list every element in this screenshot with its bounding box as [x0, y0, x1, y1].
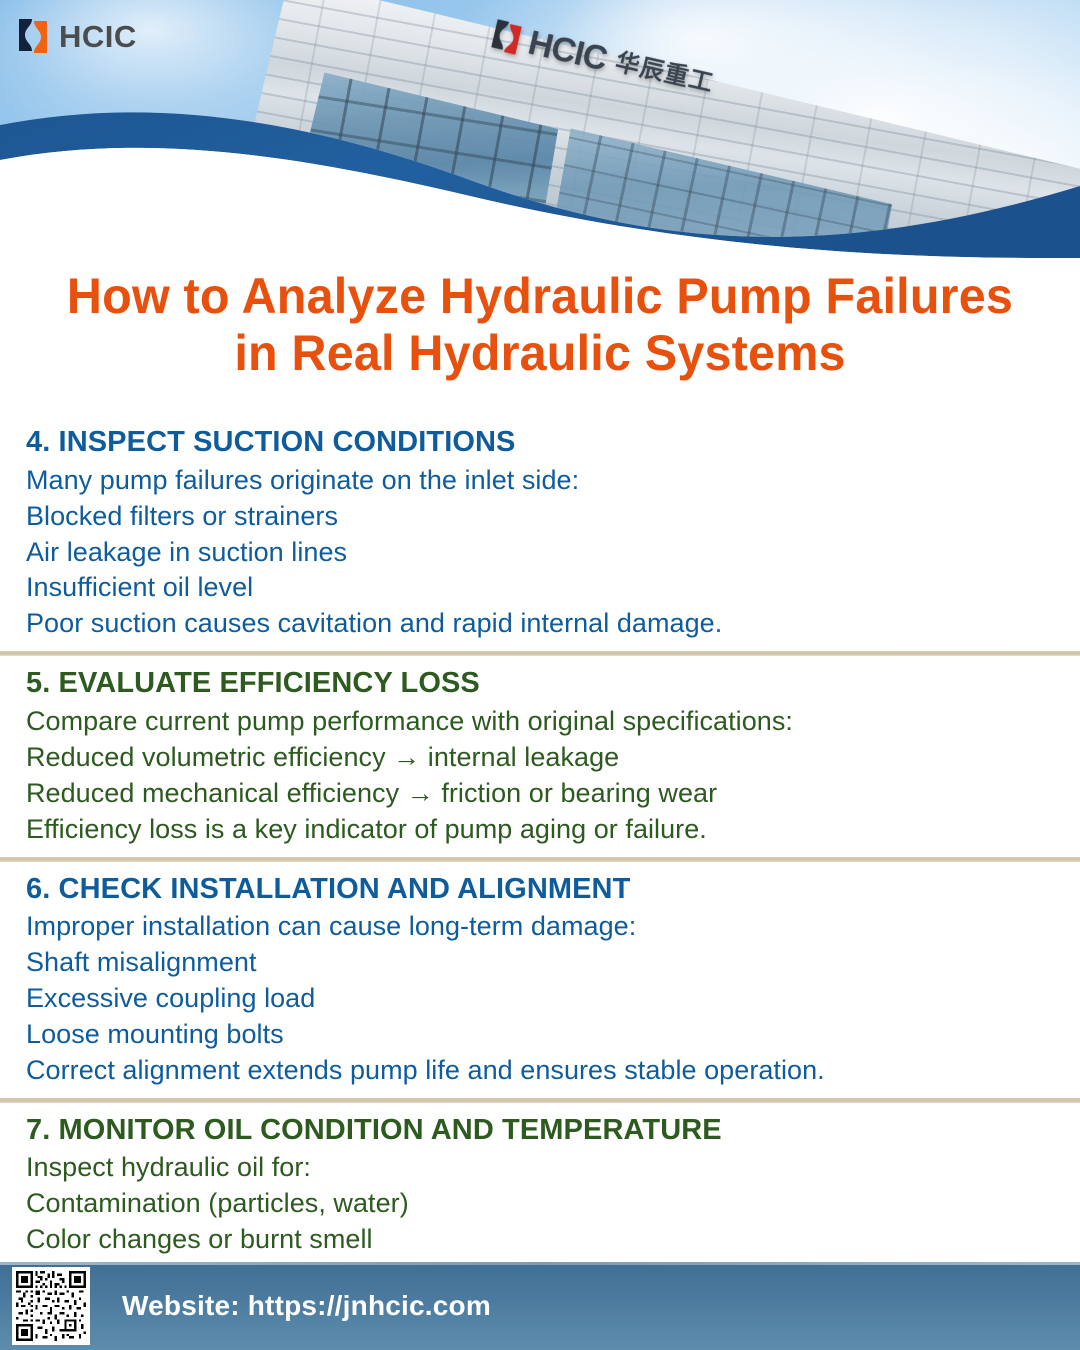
footer-bar: Website: https://jnhcic.com: [0, 1262, 1080, 1350]
section-6: 6. CHECK INSTALLATION AND ALIGNMENT Impr…: [0, 865, 1080, 1093]
section-4-line-2: Blocked filters or strainers: [26, 499, 1054, 535]
hero-banner: HCIC 华辰重工 HCIC: [0, 0, 1080, 258]
section-divider-1: [0, 651, 1080, 656]
footer-top-rule: [0, 1262, 1080, 1265]
section-6-line-3: Excessive coupling load: [26, 981, 1054, 1017]
section-6-heading: 6. CHECK INSTALLATION AND ALIGNMENT: [26, 871, 1054, 909]
section-6-line-5: Correct alignment extends pump life and …: [26, 1053, 1054, 1089]
page-title: How to Analyze Hydraulic Pump Failures i…: [16, 268, 1064, 381]
section-divider-3: [0, 1098, 1080, 1103]
section-7-line-1: Inspect hydraulic oil for:: [26, 1150, 1054, 1186]
section-5: 5. EVALUATE EFFICIENCY LOSS Compare curr…: [0, 659, 1080, 851]
section-divider-2: [0, 857, 1080, 862]
qr-code-graphic: [16, 1271, 86, 1341]
section-5-heading: 5. EVALUATE EFFICIENCY LOSS: [26, 665, 1054, 703]
section-5-line-2: Reduced volumetric efficiency → internal…: [26, 740, 1054, 776]
section-4-line-3: Air leakage in suction lines: [26, 535, 1054, 571]
hcic-logo-mark-icon: [487, 17, 526, 57]
section-6-line-4: Loose mounting bolts: [26, 1017, 1054, 1053]
section-5-line-3: Reduced mechanical efficiency → friction…: [26, 776, 1054, 812]
hcic-logo-mark-icon: [16, 17, 50, 55]
section-4: 4. INSPECT SUCTION CONDITIONS Many pump …: [0, 418, 1080, 646]
section-4-line-4: Insufficient oil level: [26, 570, 1054, 606]
website-label[interactable]: Website: https://jnhcic.com: [122, 1290, 491, 1322]
section-4-line-1: Many pump failures originate on the inle…: [26, 463, 1054, 499]
section-7-heading: 7. MONITOR OIL CONDITION AND TEMPERATURE: [26, 1112, 1054, 1150]
hcic-logo-wordmark: HCIC: [59, 21, 137, 52]
section-6-line-2: Shaft misalignment: [26, 945, 1054, 981]
qr-code-icon[interactable]: [12, 1267, 90, 1345]
section-5-line-4: Efficiency loss is a key indicator of pu…: [26, 812, 1054, 848]
section-6-line-1: Improper installation can cause long-ter…: [26, 909, 1054, 945]
section-4-heading: 4. INSPECT SUCTION CONDITIONS: [26, 424, 1054, 462]
hcic-logo: HCIC: [16, 17, 137, 55]
section-4-line-5: Poor suction causes cavitation and rapid…: [26, 606, 1054, 642]
section-7-line-3: Color changes or burnt smell: [26, 1222, 1054, 1258]
section-7-line-2: Contamination (particles, water): [26, 1186, 1054, 1222]
section-5-line-1: Compare current pump performance with or…: [26, 704, 1054, 740]
sections-container: 4. INSPECT SUCTION CONDITIONS Many pump …: [0, 418, 1080, 1334]
